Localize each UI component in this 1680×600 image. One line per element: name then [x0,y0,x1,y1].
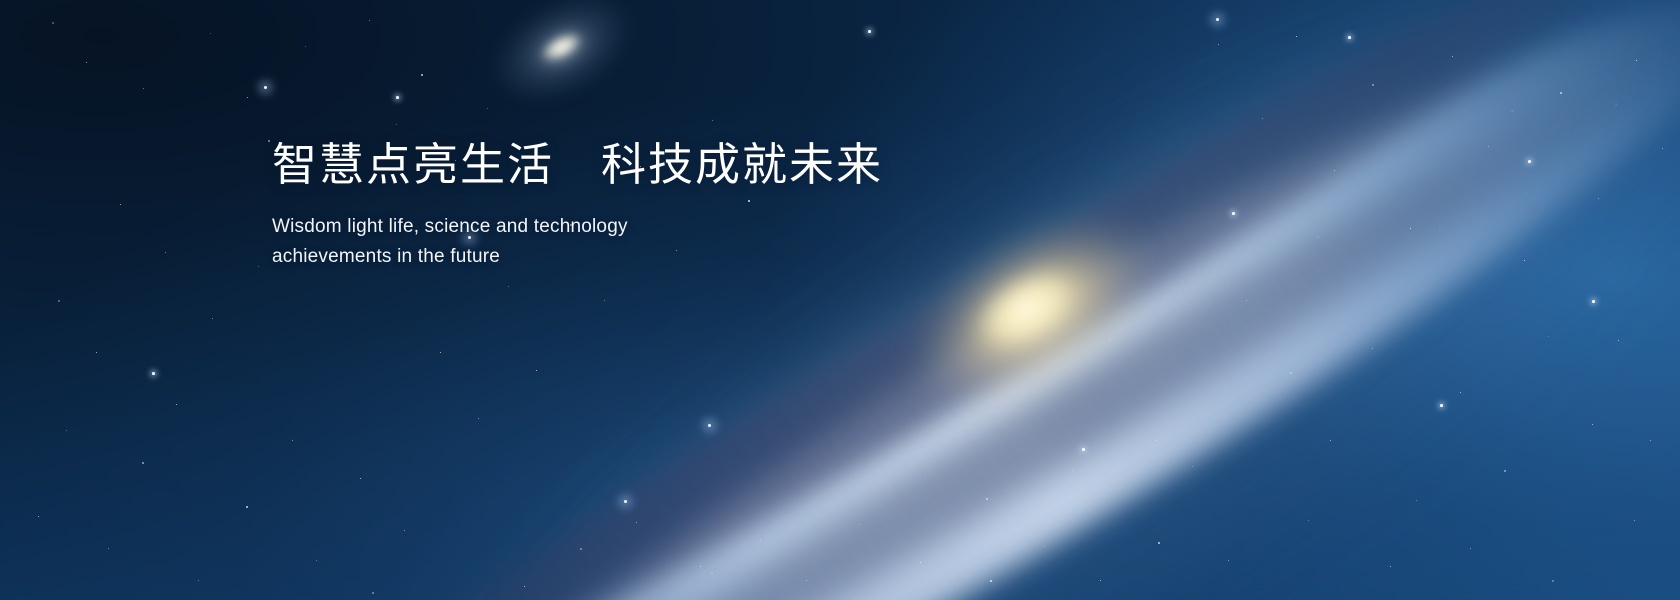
star-bright [1082,448,1085,451]
star-bright [152,372,155,375]
star-bright [1440,404,1443,407]
starfield-bright [0,0,1680,600]
star-bright [1528,160,1531,163]
star-bright [624,500,627,503]
star-bright [708,424,711,427]
star-bright [868,30,871,33]
star-bright [1216,18,1219,21]
star-bright [1348,36,1351,39]
page-subtitle: Wisdom light life, science and technolog… [272,192,667,272]
hero-copy: 智慧点亮生活 科技成就未来 Wisdom light life, science… [272,138,912,272]
star-bright [264,86,267,89]
star-bright [1232,212,1235,215]
page-title: 智慧点亮生活 科技成就未来 [272,138,912,192]
hero-banner: 智慧点亮生活 科技成就未来 Wisdom light life, science… [0,0,1680,600]
star-bright [396,96,399,99]
star-bright [1592,300,1595,303]
